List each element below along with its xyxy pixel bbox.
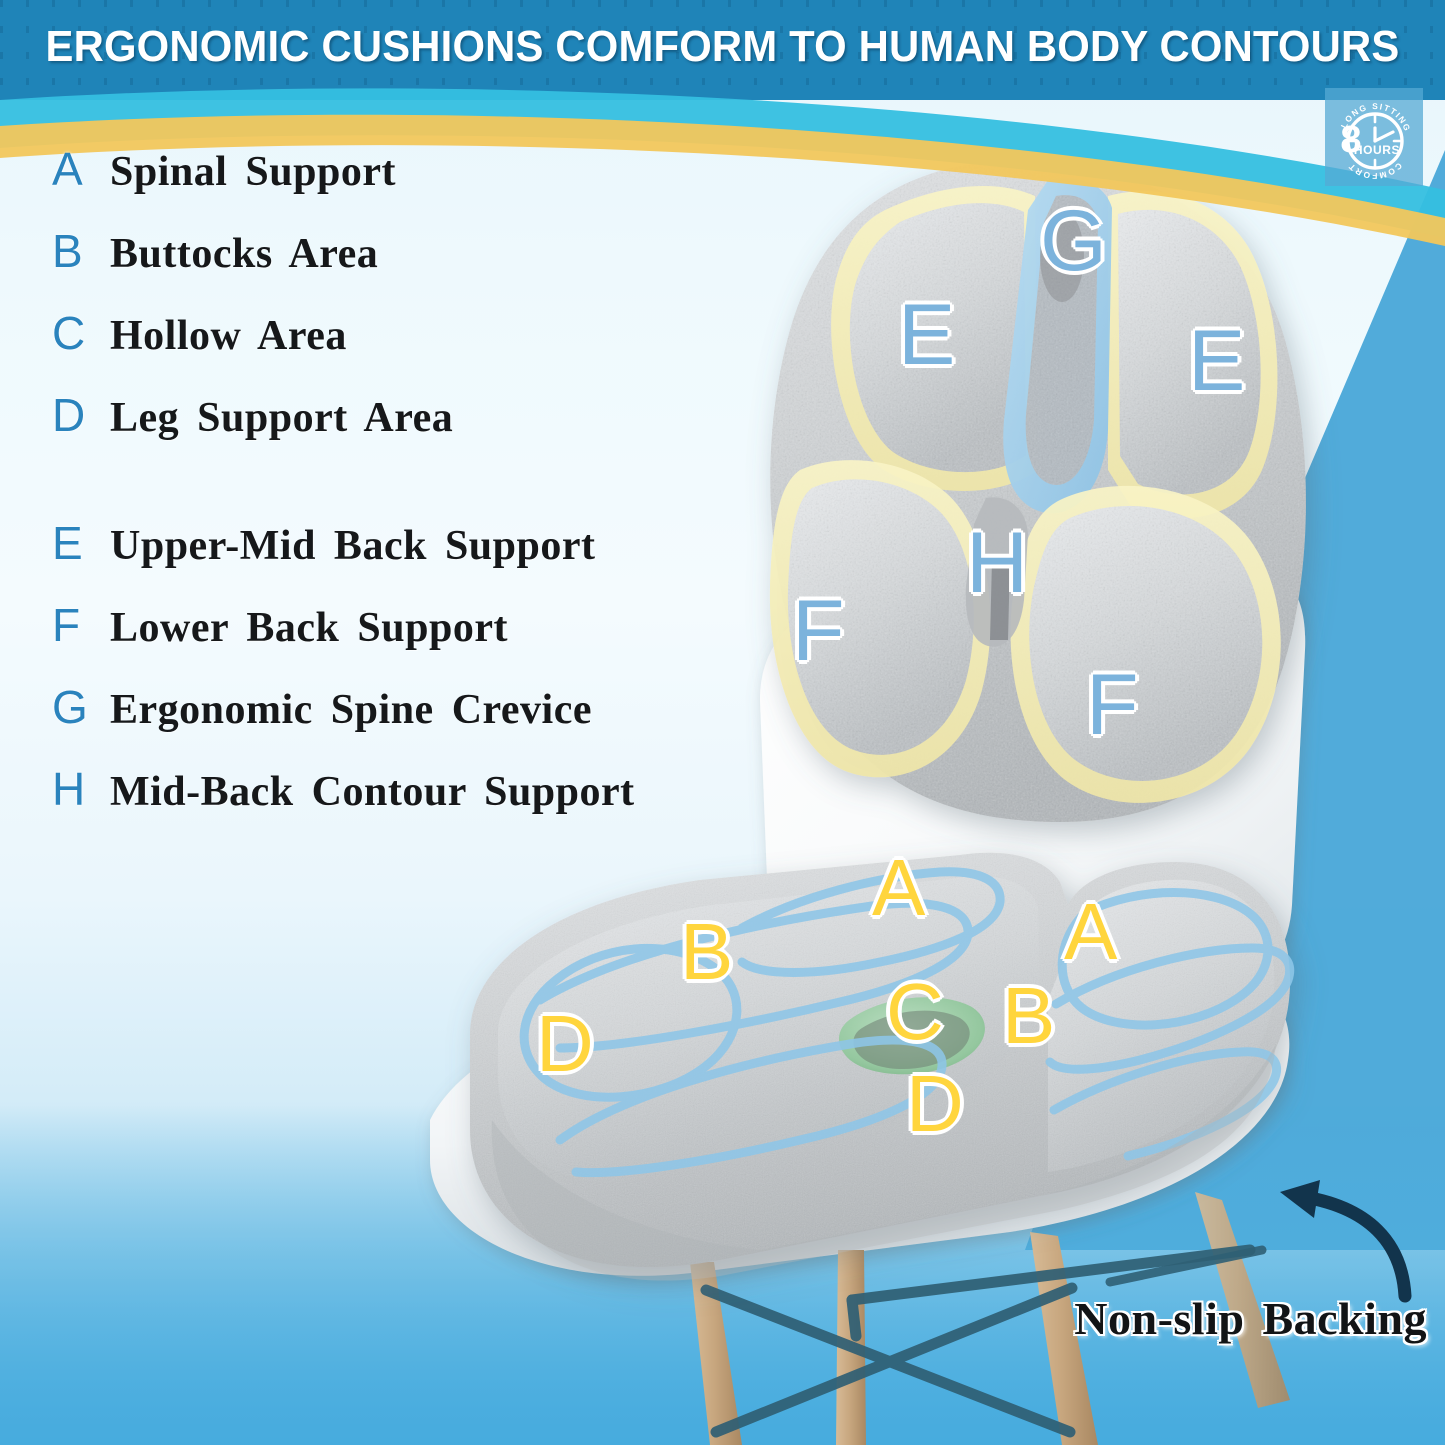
legend-group-separator bbox=[52, 474, 692, 520]
legend-label-a: Spinal Support bbox=[110, 151, 396, 193]
legend-letter-d: D bbox=[52, 392, 110, 438]
non-slip-backing-label: Non-slip Backing bbox=[1074, 1292, 1427, 1345]
legend-item-d: D Leg Support Area bbox=[52, 392, 692, 474]
infographic-canvas: G E E H F F A B A C B D D Non-slip Backi… bbox=[0, 0, 1445, 1445]
seat-cushion bbox=[470, 853, 1290, 1281]
clock-icon: 8 HOURS LONG SITTING COMFORT bbox=[1325, 88, 1423, 186]
legend-item-e: E Upper-Mid Back Support bbox=[52, 520, 692, 602]
legend-letter-e: E bbox=[52, 520, 110, 566]
legend-letter-b: B bbox=[52, 228, 110, 274]
legend-item-g: G Ergonomic Spine Crevice bbox=[52, 684, 692, 766]
legend-letter-f: F bbox=[52, 602, 110, 648]
legend-letter-a: A bbox=[52, 146, 110, 192]
legend-letter-c: C bbox=[52, 310, 110, 356]
callout-arrow-icon bbox=[1180, 1178, 1420, 1308]
legend-item-a: A Spinal Support bbox=[52, 146, 692, 228]
legend-label-g: Ergonomic Spine Crevice bbox=[110, 689, 592, 731]
legend-group-backrest: E Upper-Mid Back Support F Lower Back Su… bbox=[52, 520, 692, 848]
legend-label-h: Mid-Back Contour Support bbox=[110, 771, 635, 813]
legend-item-c: C Hollow Area bbox=[52, 310, 692, 392]
long-sitting-comfort-badge: 8 HOURS LONG SITTING COMFORT bbox=[1325, 88, 1423, 186]
legend-item-h: H Mid-Back Contour Support bbox=[52, 766, 692, 848]
legend-label-d: Leg Support Area bbox=[110, 397, 453, 439]
page-title: ERGONOMIC CUSHIONS COMFORM TO HUMAN BODY… bbox=[36, 22, 1409, 72]
legend-label-b: Buttocks Area bbox=[110, 233, 378, 275]
svg-text:HOURS: HOURS bbox=[1354, 143, 1400, 157]
legend-list: A Spinal Support B Buttocks Area C Hollo… bbox=[52, 146, 692, 848]
legend-letter-h: H bbox=[52, 766, 110, 812]
legend-letter-g: G bbox=[52, 684, 110, 730]
legend-item-b: B Buttocks Area bbox=[52, 228, 692, 310]
legend-label-e: Upper-Mid Back Support bbox=[110, 525, 596, 567]
header-banner: ERGONOMIC CUSHIONS COMFORM TO HUMAN BODY… bbox=[0, 0, 1445, 100]
legend-item-f: F Lower Back Support bbox=[52, 602, 692, 684]
legend-label-c: Hollow Area bbox=[110, 315, 347, 357]
legend-label-f: Lower Back Support bbox=[110, 607, 508, 649]
backrest-cushion bbox=[770, 160, 1306, 822]
legend-group-seat: A Spinal Support B Buttocks Area C Hollo… bbox=[52, 146, 692, 474]
